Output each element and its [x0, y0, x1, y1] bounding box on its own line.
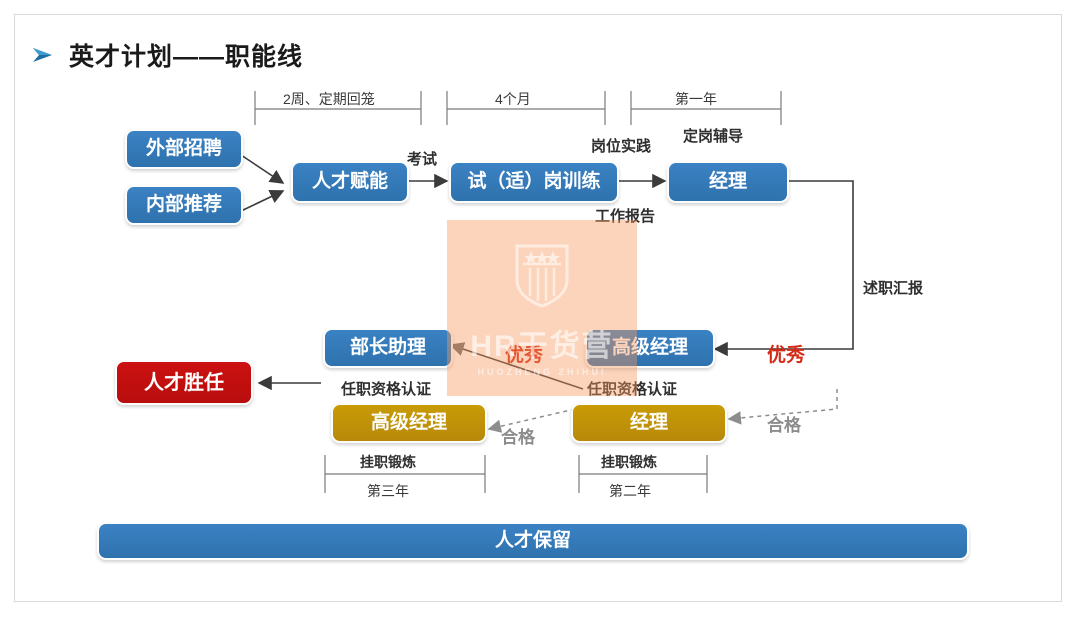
node-manager-gold[interactable]: 经理 [571, 403, 727, 443]
edge-label-post-guidance: 定岗辅导 [683, 125, 743, 146]
edge-label-work-report: 工作报告 [595, 205, 655, 226]
node-internal-referral[interactable]: 内部推荐 [125, 185, 243, 225]
watermark-overlay: HR干货营 HUOZHENG ZHIHUI [447, 220, 637, 396]
edge-label-exam: 考试 [407, 148, 437, 169]
node-trial-post-training[interactable]: 试（适）岗训练 [449, 161, 619, 203]
node-talent-competent[interactable]: 人才胜任 [115, 360, 253, 405]
page-title: 英才计划——职能线 [31, 37, 303, 73]
node-talent-enable[interactable]: 人才赋能 [291, 161, 409, 203]
edge-label-post-practice: 岗位实践 [591, 135, 651, 156]
edge-label-qualified-left: 合格 [501, 423, 535, 448]
connector-layer [15, 15, 1063, 603]
node-external-recruit[interactable]: 外部招聘 [125, 129, 243, 169]
timeline-top-label-2: 第一年 [675, 89, 717, 109]
node-senior-manager-gold[interactable]: 高级经理 [331, 403, 487, 443]
timeline-top-label-0: 2周、定期回笼 [283, 89, 375, 109]
arrow-bullet-icon [31, 45, 55, 65]
node-manager-top[interactable]: 经理 [667, 161, 789, 203]
edge-label-excellent-left: 优秀 [505, 340, 543, 367]
timeline-bottom-label-0-top: 挂职锻炼 [360, 452, 416, 472]
slide-canvas: 英才计划——职能线 [14, 14, 1062, 602]
node-talent-retention[interactable]: 人才保留 [97, 522, 969, 560]
shield-logo-icon [511, 240, 573, 315]
edge-label-qualification-right: 任职资格认证 [587, 378, 677, 399]
timeline-bottom-label-0-bottom: 第三年 [367, 481, 409, 501]
node-director-assistant[interactable]: 部长助理 [323, 328, 453, 368]
timeline-top-label-1: 4个月 [495, 89, 531, 109]
edge-label-qualified-right: 合格 [767, 411, 801, 436]
edge-label-qualification-left: 任职资格认证 [341, 378, 431, 399]
page-title-text: 英才计划——职能线 [69, 37, 303, 73]
watermark-subtext: HUOZHENG ZHIHUI [478, 367, 607, 377]
node-senior-manager-blue[interactable]: 高级经理 [585, 328, 715, 368]
timeline-bottom-label-1-bottom: 第二年 [609, 481, 651, 501]
edge-label-excellent-right: 优秀 [767, 340, 805, 367]
timeline-bottom-label-1-top: 挂职锻炼 [601, 452, 657, 472]
edge-label-job-report: 述职汇报 [863, 277, 923, 298]
